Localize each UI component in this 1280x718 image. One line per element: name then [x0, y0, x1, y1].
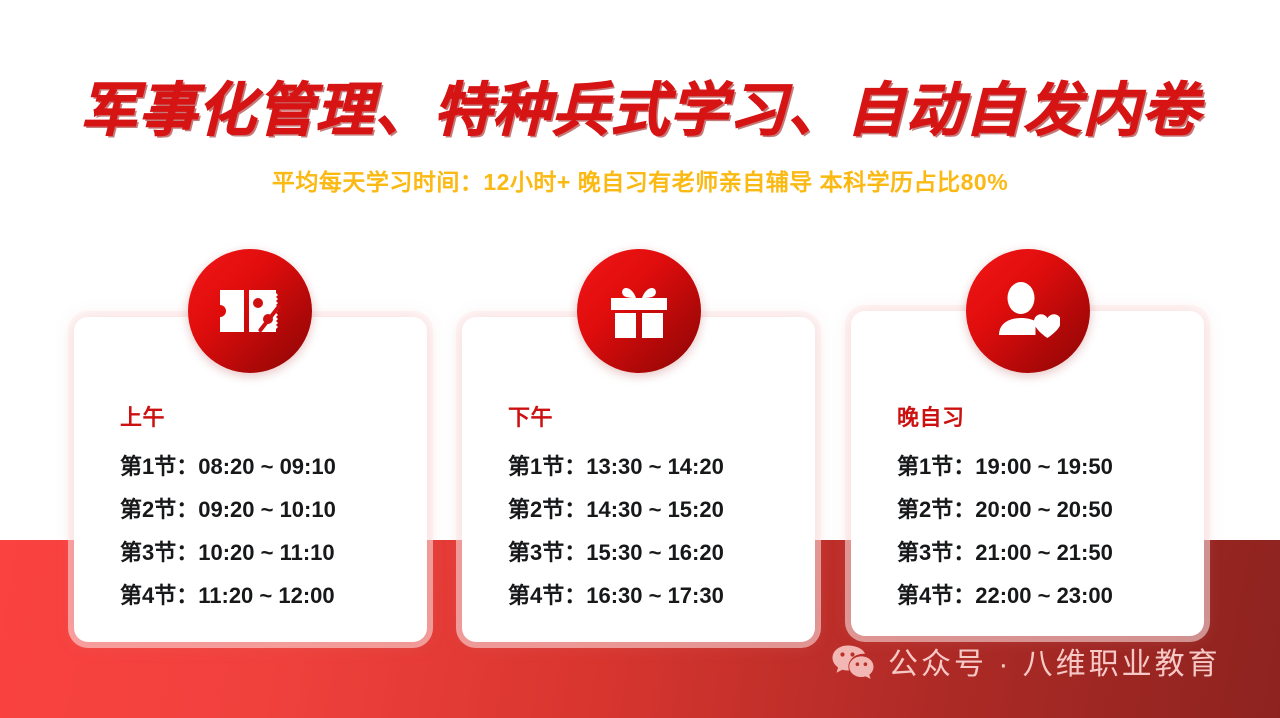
subtitle-container: 平均每天学习时间：12小时+ 晚自习有老师亲自辅导 本科学历占比80%: [0, 167, 1280, 197]
icon-badge-afternoon: [577, 249, 701, 373]
card-heading: 晚自习: [897, 403, 1190, 433]
title-container: 军事化管理、特种兵式学习、自动自发内卷: [0, 76, 1280, 146]
card-body: 下午 第1节：13:30 ~ 14:20 第2节：14:30 ~ 15:20 第…: [508, 403, 801, 617]
icon-badge-evening: [966, 249, 1090, 373]
schedule-line: 第4节：22:00 ~ 23:00: [897, 574, 1190, 617]
schedule-line: 第2节：14:30 ~ 15:20: [508, 488, 801, 531]
card-body: 晚自习 第1节：19:00 ~ 19:50 第2节：20:00 ~ 20:50 …: [897, 403, 1190, 617]
gift-box-icon: [608, 281, 670, 341]
schedule-line: 第4节：11:20 ~ 12:00: [120, 574, 413, 617]
footer-account: 公众号 · 八维职业教育: [832, 644, 1221, 685]
person-heart-icon: [996, 282, 1060, 340]
schedule-line: 第1节：13:30 ~ 14:20: [508, 445, 801, 488]
coupon-percent-icon: [218, 286, 282, 336]
wechat-icon: [832, 644, 874, 685]
poster-root: 军事化管理、特种兵式学习、自动自发内卷 平均每天学习时间：12小时+ 晚自习有老…: [0, 0, 1280, 718]
footer-account-name: 公众号 · 八维职业教育: [888, 645, 1221, 685]
schedule-line: 第3节：21:00 ~ 21:50: [897, 531, 1190, 574]
card-body: 上午 第1节：08:20 ~ 09:10 第2节：09:20 ~ 10:10 第…: [120, 403, 413, 617]
schedule-line: 第4节：16:30 ~ 17:30: [508, 574, 801, 617]
schedule-line: 第2节：20:00 ~ 20:50: [897, 488, 1190, 531]
schedule-line: 第2节：09:20 ~ 10:10: [120, 488, 413, 531]
card-heading: 下午: [508, 403, 801, 433]
schedule-line: 第1节：19:00 ~ 19:50: [897, 445, 1190, 488]
card-heading: 上午: [120, 403, 413, 433]
schedule-line: 第3节：10:20 ~ 11:10: [120, 531, 413, 574]
schedule-line: 第3节：15:30 ~ 16:20: [508, 531, 801, 574]
icon-badge-morning: [188, 249, 312, 373]
schedule-line: 第1节：08:20 ~ 09:10: [120, 445, 413, 488]
page-title: 军事化管理、特种兵式学习、自动自发内卷: [79, 76, 1200, 146]
page-subtitle: 平均每天学习时间：12小时+ 晚自习有老师亲自辅导 本科学历占比80%: [272, 167, 1008, 197]
